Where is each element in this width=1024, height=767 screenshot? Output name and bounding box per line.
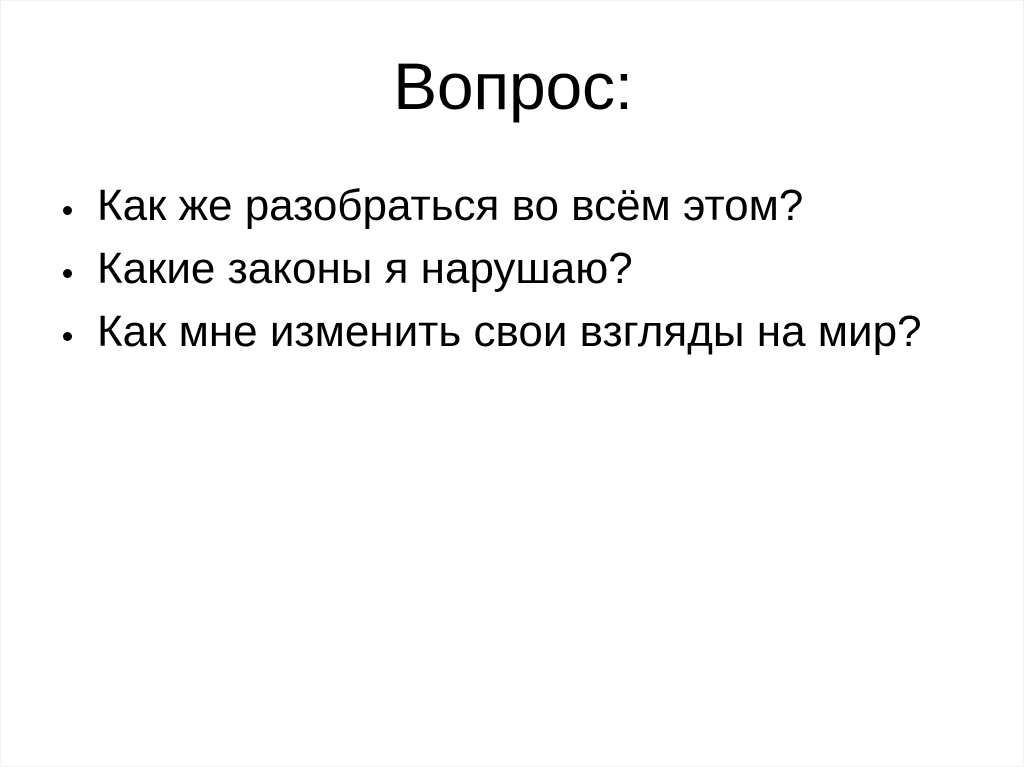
bullet-dot-icon	[63, 269, 72, 278]
bullet-list: Как же разобраться во всём этом? Какие з…	[49, 183, 989, 372]
list-item: Как мне изменить свои взгляды на мир?	[49, 309, 989, 372]
bullet-dot-icon	[63, 332, 72, 341]
presentation-slide: Вопрос: Как же разобраться во всём этом?…	[0, 0, 1024, 767]
bullet-dot-icon	[63, 206, 72, 215]
list-item: Какие законы я нарушаю?	[49, 246, 989, 309]
list-item: Как же разобраться во всём этом?	[49, 183, 989, 246]
list-item-label: Как же разобраться во всём этом?	[97, 183, 803, 229]
list-item-label: Какие законы я нарушаю?	[97, 246, 633, 292]
page-title: Вопрос:	[1, 53, 1024, 119]
list-item-label: Как мне изменить свои взгляды на мир?	[97, 309, 922, 355]
